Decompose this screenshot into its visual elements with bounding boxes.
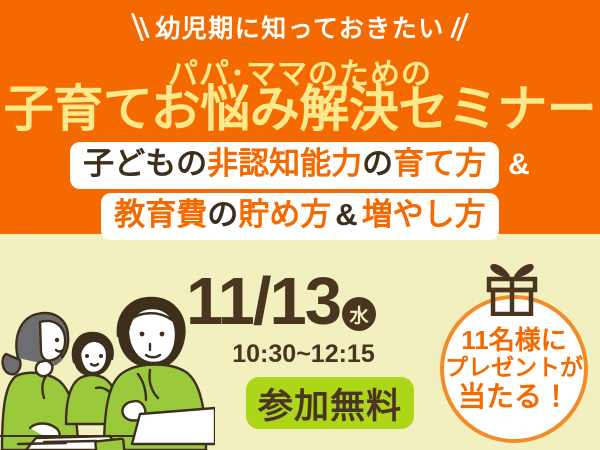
gift-badge-line-2: プレゼントが [445,355,583,381]
seminar-banner: 幼児期に知っておきたい パパ･ママのための 子育てお悩み解決セミナー 子どもの非… [0,0,600,450]
subtitle-1-orange-1: 非認知能力 [207,146,362,181]
subtitle-2-orange-1: 教育費 [114,197,207,232]
gift-box-icon [480,262,544,316]
gift-badge-line-3: 当たる！ [458,381,570,412]
event-time: 10:30~12:15 [186,340,421,369]
subtitle-box-2: 教育費の貯め方&増やし方 [101,193,498,240]
day-of-week-badge: 水 [342,297,376,331]
tagline-top-row: 幼児期に知っておきたい [0,9,600,45]
main-title: 子育てお悩み解決セミナー [0,81,600,137]
subtitle-ampersand-inside: & [331,197,361,232]
family-at-table-illustration [0,258,215,450]
free-participation-button[interactable]: 参加無料 [246,377,414,429]
subtitle-1-orange-2: 育て方 [393,146,486,181]
subtitle-1-dark-1: 子どもの [83,146,207,181]
subtitle-row-1: 子どもの非認知能力の育て方 & [0,142,600,189]
subtitle-1-dark-2: の [362,146,393,181]
slash-decoration-right [454,12,464,42]
tagline-top-text: 幼児期に知っておきたい [155,9,445,45]
subtitle-2-orange-3: 増やし方 [362,197,486,232]
subtitle-row-2: 教育費の貯め方&増やし方 [0,193,600,240]
subtitle-2-orange-2: 貯め方 [238,197,331,232]
event-date-row: 11/13 水 [186,268,376,335]
slash-decoration-left [136,12,146,42]
subtitle-2-dark-1: の [207,197,238,232]
subtitle-ampersand-outside: & [508,148,530,182]
gift-badge-line-1: 11名様に [461,326,567,355]
event-date: 11/13 [186,268,340,335]
gift-prize-badge: 11名様に プレゼントが 当たる！ [440,295,588,443]
subtitle-box-1: 子どもの非認知能力の育て方 [70,142,499,189]
